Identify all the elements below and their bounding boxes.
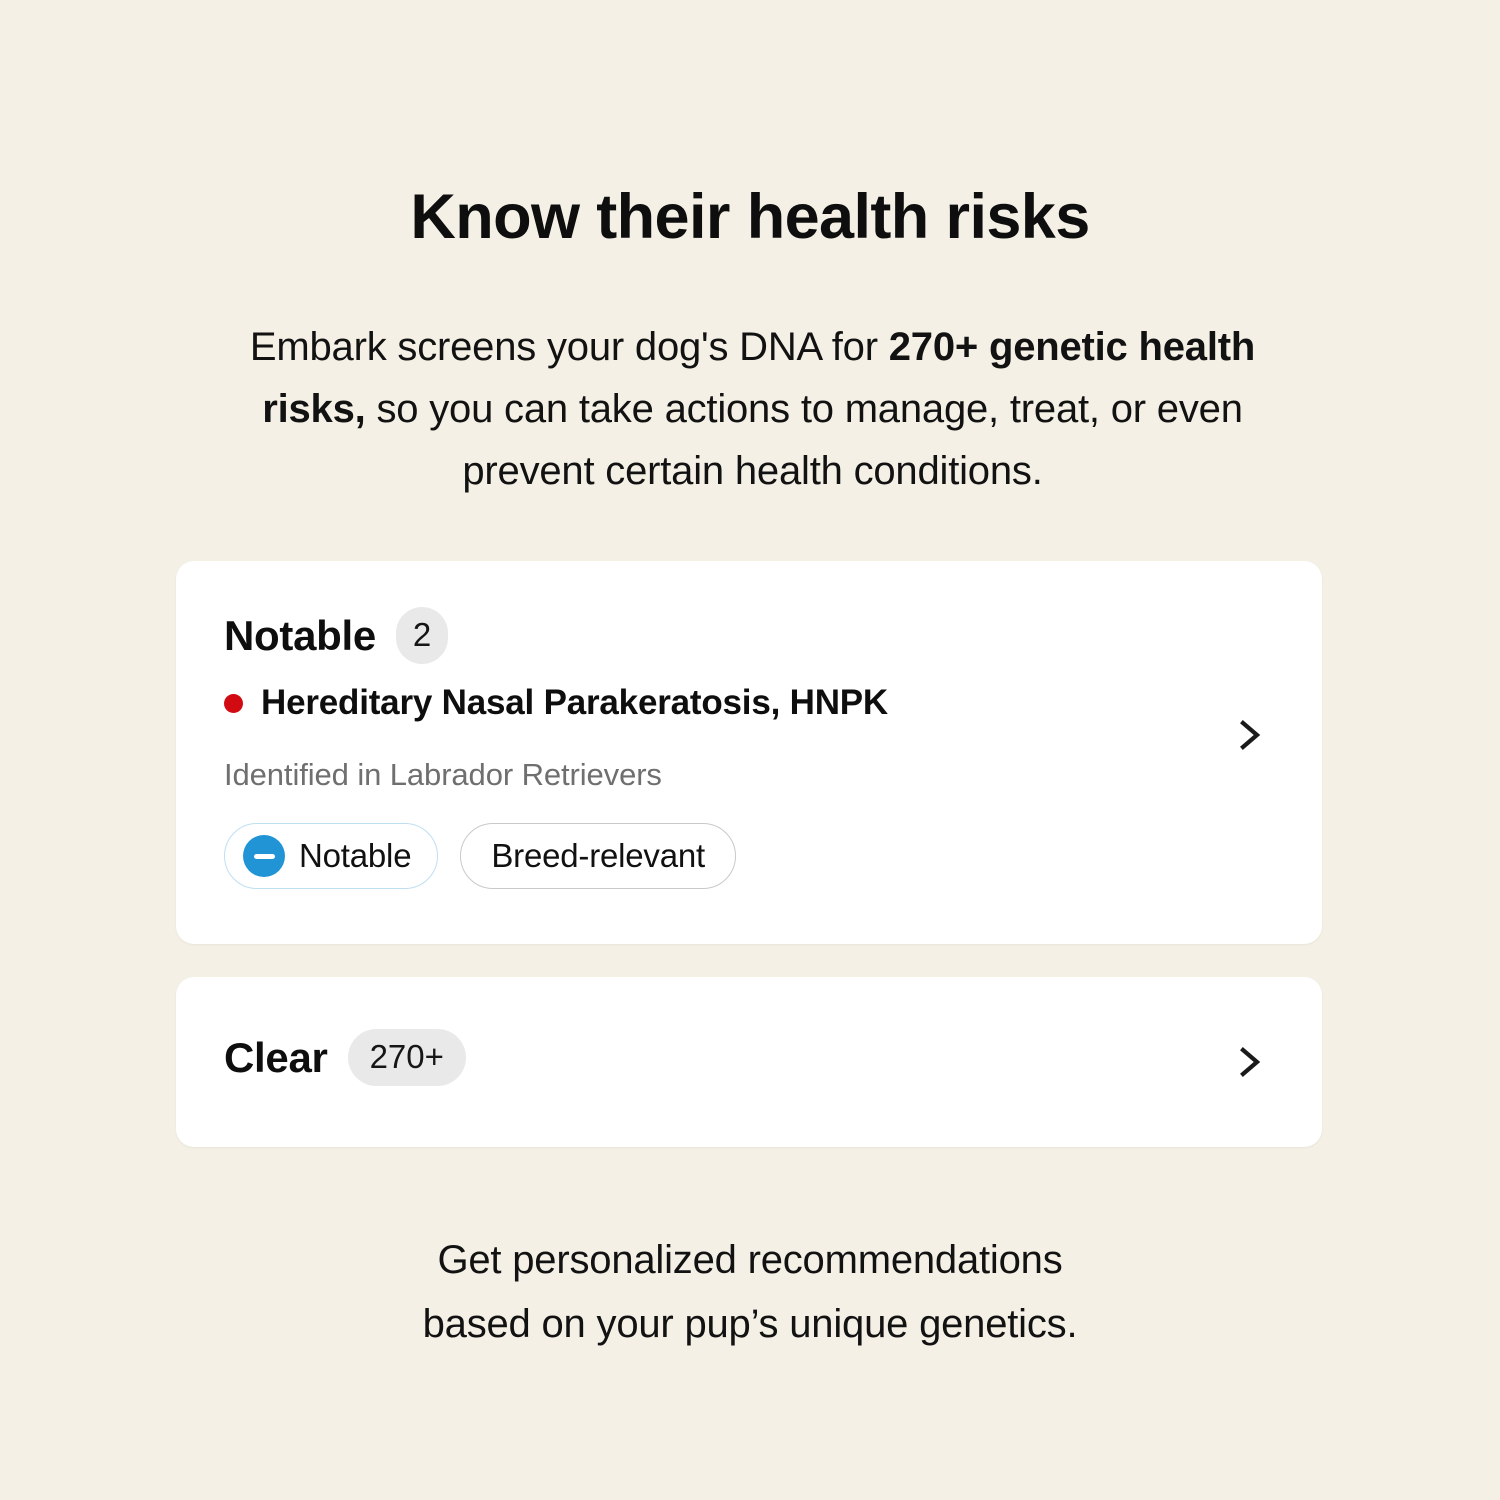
notable-count-badge: 2 (396, 607, 448, 664)
page-title: Know their health risks (0, 184, 1500, 250)
page-subtitle: Embark screens your dog's DNA for 270+ g… (210, 316, 1295, 502)
chevron-right-icon[interactable] (1232, 718, 1266, 752)
risk-item-name: Hereditary Nasal Parakeratosis, HNPK (261, 683, 888, 723)
footer-text: Get personalized recommendations based o… (250, 1228, 1250, 1356)
tag-breed-relevant[interactable]: Breed-relevant (460, 823, 736, 889)
risk-item-header: Hereditary Nasal Parakeratosis, HNPK (224, 683, 888, 723)
subtitle-part-1: Embark screens your dog's DNA for (250, 325, 889, 369)
tag-breed-relevant-label: Breed-relevant (491, 837, 705, 875)
risk-item-detail: Identified in Labrador Retrievers (224, 757, 662, 793)
red-dot-icon (224, 694, 243, 713)
health-risks-panel: Know their health risks Embark screens y… (0, 0, 1500, 1500)
risk-tag-list: Notable Breed-relevant (224, 823, 736, 889)
notable-card-title: Notable (224, 612, 376, 660)
notable-card-header: Notable 2 (224, 607, 448, 664)
footer-line-2: based on your pup’s unique genetics. (250, 1292, 1250, 1356)
chevron-right-icon[interactable] (1232, 1045, 1266, 1079)
tag-notable-label: Notable (299, 837, 411, 875)
clear-risks-card[interactable]: Clear 270+ (176, 977, 1322, 1147)
circle-minus-icon (243, 835, 285, 877)
tag-notable[interactable]: Notable (224, 823, 438, 889)
clear-count-badge: 270+ (348, 1029, 466, 1086)
subtitle-part-2: so you can take actions to manage, treat… (366, 387, 1243, 493)
footer-line-1: Get personalized recommendations (250, 1228, 1250, 1292)
clear-card-header: Clear 270+ (224, 1029, 466, 1086)
clear-card-title: Clear (224, 1034, 328, 1082)
notable-risks-card[interactable]: Notable 2 Hereditary Nasal Parakeratosis… (176, 561, 1322, 944)
